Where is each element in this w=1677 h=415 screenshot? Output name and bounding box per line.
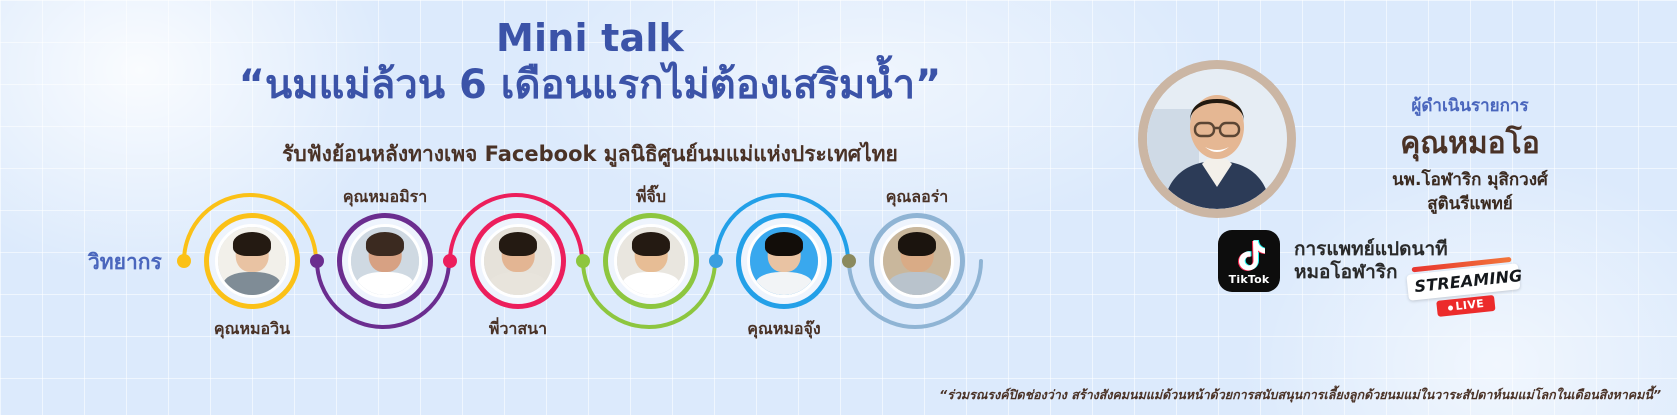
portrait-hair <box>632 232 670 255</box>
person-portrait-icon <box>218 227 286 295</box>
person-portrait-icon <box>351 227 419 295</box>
speaker-photo <box>614 224 688 298</box>
speaker-connector-node <box>709 254 723 268</box>
portrait-shoulders <box>755 272 812 298</box>
speaker-avatar[interactable] <box>603 213 699 309</box>
portrait-hair <box>366 232 404 255</box>
tiktok-wordmark: TikTok <box>1218 273 1280 286</box>
speaker-avatar[interactable] <box>470 213 566 309</box>
live-dot-icon <box>1447 305 1452 310</box>
host-avatar <box>1138 60 1296 218</box>
speaker-name: คุณหมอมิรา <box>343 185 427 210</box>
speaker-connector-node <box>310 254 324 268</box>
speaker-photo <box>747 224 821 298</box>
portrait-shoulders <box>622 272 679 298</box>
speaker-photo <box>481 224 555 298</box>
speaker-connector-node <box>842 254 856 268</box>
host-photo-image <box>1147 69 1287 209</box>
portrait-hair <box>765 232 803 255</box>
speaker-connector-node <box>443 254 457 268</box>
status-badge: STREAMING LIVE <box>1406 256 1523 319</box>
host-name: คุณหมอโอ <box>1310 120 1630 167</box>
person-portrait-icon <box>883 227 951 295</box>
speaker-photo <box>348 224 422 298</box>
headline-line-2: “นมแม่ล้วน 6 เดือนแรกไม่ต้องเสริมน้ำ” <box>150 62 1030 108</box>
portrait-shoulders <box>888 272 945 298</box>
tiktok-note-glyph <box>1235 239 1265 271</box>
portrait-hair <box>499 232 537 255</box>
speaker-item[interactable]: พี่วาสนา <box>470 213 566 309</box>
speaker-name: คุณหมอจุ๊ง <box>747 317 820 342</box>
live-label: LIVE <box>1455 297 1485 313</box>
speaker-name: คุณหมอวิน <box>214 317 290 342</box>
footnote: “ร่วมรณรงค์ปิดช่องว่าง สร้างสังคมนมแม่ด้… <box>840 385 1661 405</box>
person-portrait-icon <box>484 227 552 295</box>
subtitle: รับฟังย้อนหลังทางเพจ Facebook มูลนิธิศูน… <box>150 138 1030 171</box>
speaker-item[interactable]: คุณหมอจุ๊ง <box>736 213 832 309</box>
speaker-avatar[interactable] <box>337 213 433 309</box>
portrait-shoulders <box>223 272 280 298</box>
portrait-hair <box>233 232 271 255</box>
speaker-photo <box>880 224 954 298</box>
speaker-avatar[interactable] <box>204 213 300 309</box>
host-subtitle-line-2: สูตินรีแพทย์ <box>1310 194 1630 215</box>
speaker-name: คุณลอร่า <box>886 185 949 210</box>
speaker-connector-node <box>177 254 191 268</box>
speaker-name: พี่วาสนา <box>489 317 547 342</box>
speaker-item[interactable]: พี่จิ๊บ <box>603 213 699 309</box>
speaker-avatar[interactable] <box>869 213 965 309</box>
tiktok-icon[interactable]: TikTok <box>1218 230 1280 292</box>
speaker-item[interactable]: คุณลอร่า <box>869 213 965 309</box>
portrait-shoulders <box>356 272 413 298</box>
banner-canvas: Mini talk “นมแม่ล้วน 6 เดือนแรกไม่ต้องเส… <box>0 0 1677 415</box>
tiktok-channel-line-1: การแพทย์แปดนาที <box>1294 238 1448 261</box>
speakers-rail: คุณหมอวินคุณหมอมิราพี่วาสนาพี่จิ๊บคุณหมอ… <box>0 185 1060 345</box>
person-portrait-icon <box>750 227 818 295</box>
host-subtitle-line-1: นพ.โอฬาริก มุสิกวงศ์ <box>1310 170 1630 191</box>
portrait-hair <box>898 232 936 255</box>
host-info: ผู้ดำเนินรายการ คุณหมอโอ นพ.โอฬาริก มุสิ… <box>1310 92 1630 216</box>
host-portrait-icon <box>1147 69 1287 209</box>
host-role: ผู้ดำเนินรายการ <box>1310 92 1630 119</box>
person-portrait-icon <box>617 227 685 295</box>
live-badge: LIVE <box>1436 295 1495 317</box>
portrait-shoulders <box>489 272 546 298</box>
speaker-item[interactable]: คุณหมอวิน <box>204 213 300 309</box>
page-title: Mini talk “นมแม่ล้วน 6 เดือนแรกไม่ต้องเส… <box>150 16 1030 108</box>
speaker-avatar[interactable] <box>736 213 832 309</box>
headline-line-1: Mini talk <box>150 16 1030 60</box>
speaker-connector-node <box>576 254 590 268</box>
speaker-item[interactable]: คุณหมอมิรา <box>337 213 433 309</box>
speaker-name: พี่จิ๊บ <box>636 185 666 210</box>
speaker-photo <box>215 224 289 298</box>
